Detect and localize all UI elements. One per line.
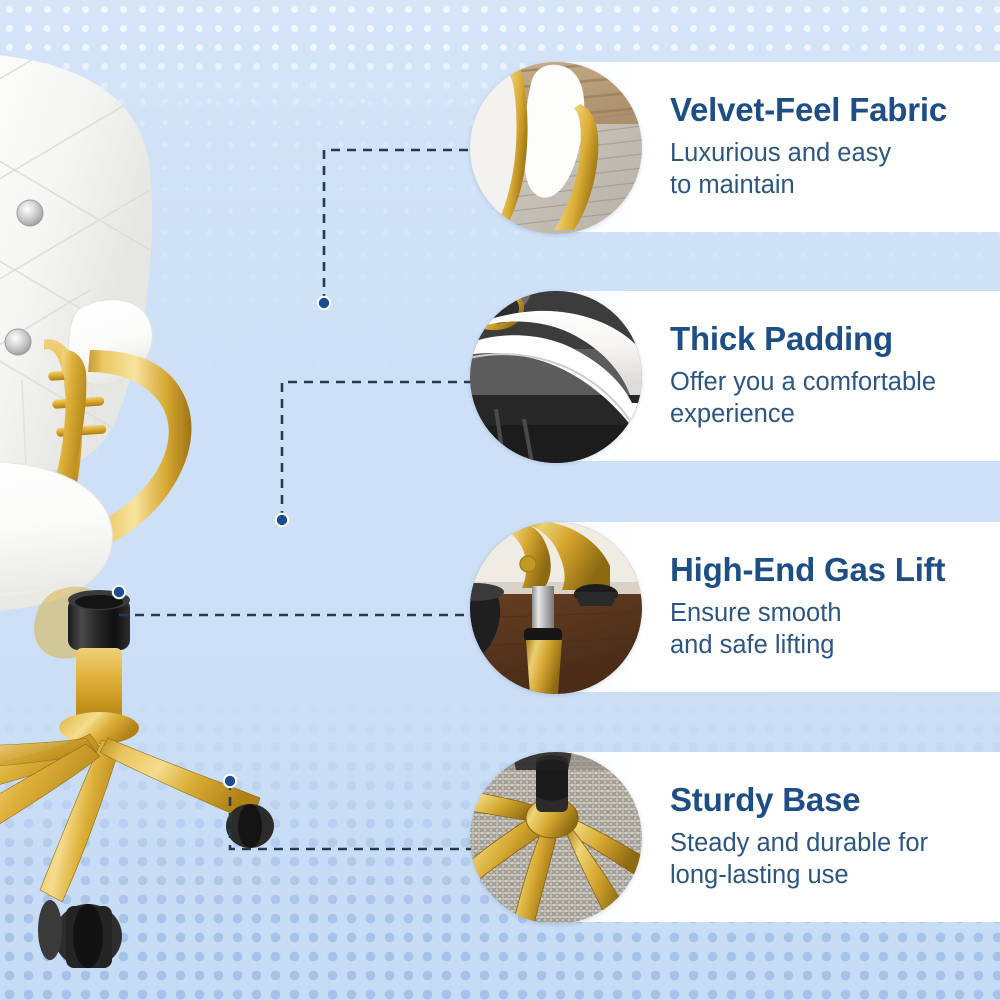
thumb-seat-cushion-closeup[interactable] [470,291,642,463]
feature-title: High-End Gas Lift [670,553,994,588]
feature-block-high-end-gas-lift: High-End Gas Lift Ensure smooth and safe… [470,522,1000,692]
feature-title: Thick Padding [670,322,994,357]
feature-text: Thick Padding Offer you a comfortable ex… [670,291,994,461]
feature-description: Steady and durable for long-lasting use [670,827,994,891]
thumb-five-star-base-closeup[interactable] [470,752,642,924]
feature-description: Ensure smooth and safe lifting [670,597,994,661]
feature-description: Luxurious and easy to maintain [670,137,994,201]
feature-block-sturdy-base: Sturdy Base Steady and durable for long-… [470,752,1000,922]
thumb-gas-lift-cylinder-closeup[interactable] [470,522,642,694]
feature-text: Sturdy Base Steady and durable for long-… [670,752,994,922]
feature-text: Velvet-Feel Fabric Luxurious and easy to… [670,62,994,232]
chair-five-star-base [0,712,274,968]
feature-description: Offer you a comfortable experience [670,366,994,430]
feature-block-thick-padding: Thick Padding Offer you a comfortable ex… [470,291,1000,461]
chair-gas-lift [34,587,130,726]
thumb-chair-backrest-closeup[interactable] [470,62,642,234]
feature-title: Velvet-Feel Fabric [670,93,994,128]
feature-title: Sturdy Base [670,783,994,818]
feature-block-velvet-feel-fabric: Velvet-Feel Fabric Luxurious and easy to… [470,62,1000,232]
feature-text: High-End Gas Lift Ensure smooth and safe… [670,522,994,692]
office-chair-illustration [0,50,370,980]
